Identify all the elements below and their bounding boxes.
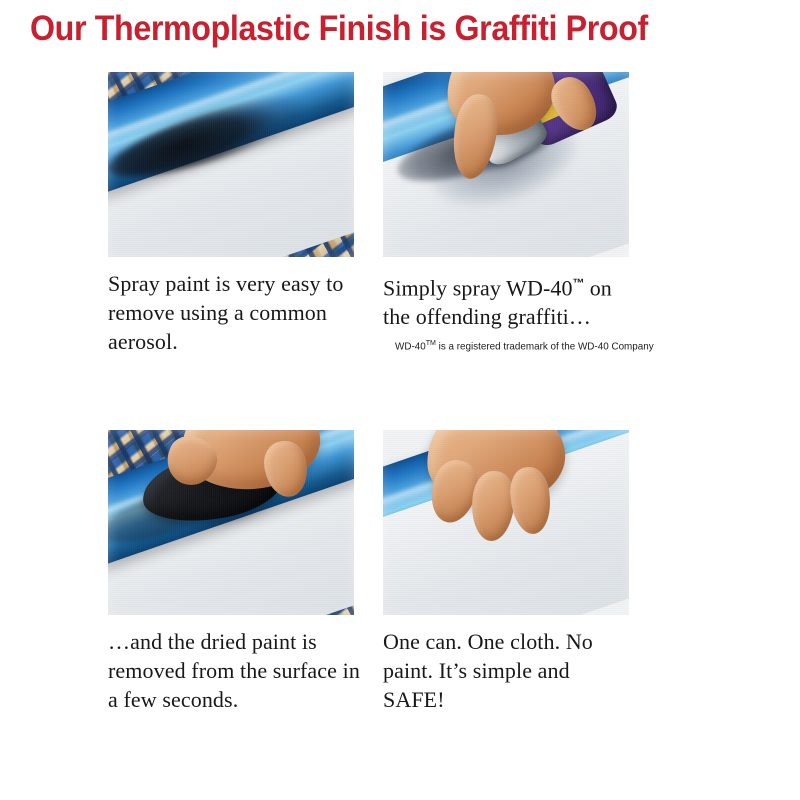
- step-panel-3: …and the dried paint is removed from the…: [108, 430, 354, 714]
- step-panel-4: One can. One cloth. No paint. It’s simpl…: [383, 430, 629, 714]
- step-caption-3: …and the dried paint is removed from the…: [108, 627, 360, 714]
- step-caption-2: Simply spray WD-40™ on the offending gra…: [383, 269, 635, 331]
- steps-grid: Spray paint is very easy to remove using…: [0, 72, 800, 788]
- clean-blue-surface-after-wiping-image: [383, 430, 629, 615]
- hand-wiping-paint-with-cloth-image: [108, 430, 354, 615]
- trademark-note-before: WD-40: [395, 341, 426, 353]
- step-caption-4: One can. One cloth. No paint. It’s simpl…: [383, 627, 635, 714]
- step-caption-2-main: Simply spray WD-40: [383, 275, 573, 300]
- trademark-superscript-icon: TM: [426, 338, 436, 347]
- trademark-note-after: is a registered trademark of the WD-40 C…: [436, 341, 654, 353]
- hand-spraying-wd40-on-graffiti-image: [383, 72, 629, 257]
- blue-mesh-bench-with-black-spray-paint-image: [108, 72, 354, 257]
- step-caption-1: Spray paint is very easy to remove using…: [108, 269, 360, 356]
- steps-row-top: Spray paint is very easy to remove using…: [0, 72, 800, 430]
- wd40-trademark-note: WD-40TM is a registered trademark of the…: [395, 336, 641, 354]
- step-panel-2: Simply spray WD-40™ on the offending gra…: [383, 72, 629, 354]
- trademark-symbol-icon: ™: [573, 276, 585, 290]
- step-panel-1: Spray paint is very easy to remove using…: [108, 72, 354, 356]
- page-title: Our Thermoplastic Finish is Graffiti Pro…: [30, 8, 674, 50]
- steps-row-bottom: …and the dried paint is removed from the…: [0, 430, 800, 788]
